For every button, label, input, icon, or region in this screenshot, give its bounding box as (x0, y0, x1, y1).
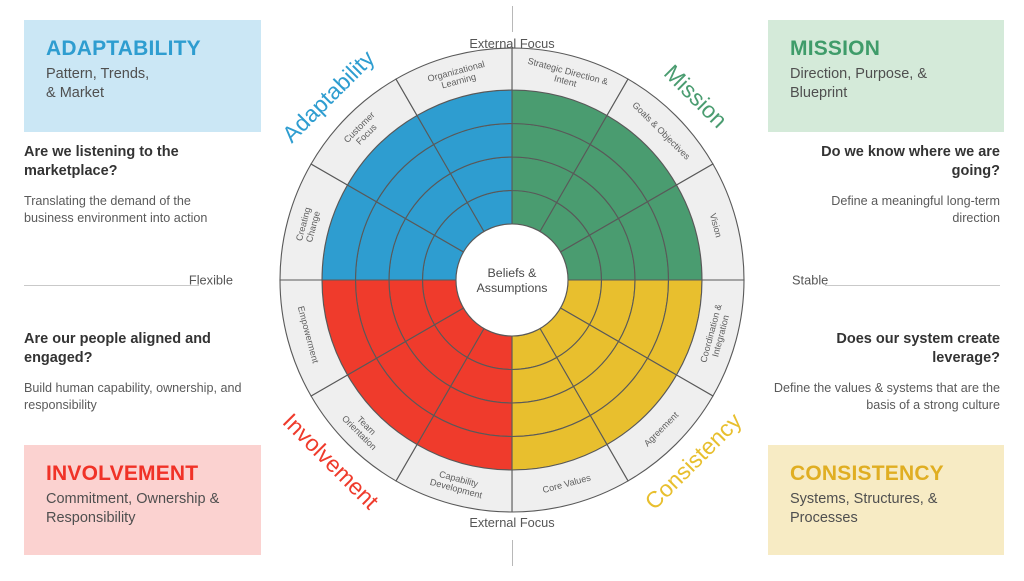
divider-left (24, 285, 199, 286)
culture-wheel: External Focus External Focus Flexible S… (180, 0, 844, 576)
axis-label-left: Flexible (189, 273, 233, 288)
divider-right (825, 285, 1000, 286)
axis-label-right: Stable (792, 273, 828, 288)
axis-tick-bottom (512, 540, 513, 566)
wheel-hub (456, 224, 568, 336)
wheel-svg: Beliefs &Assumptions Strategic Direction… (180, 0, 844, 576)
axis-tick-top (512, 6, 513, 32)
culture-model-diagram: ADAPTABILITY Pattern, Trends,& Market Ar… (0, 0, 1024, 576)
wheel-center: Beliefs &Assumptions (456, 224, 568, 336)
axis-label-bottom: External Focus (469, 515, 554, 530)
axis-label-top: External Focus (469, 36, 554, 51)
